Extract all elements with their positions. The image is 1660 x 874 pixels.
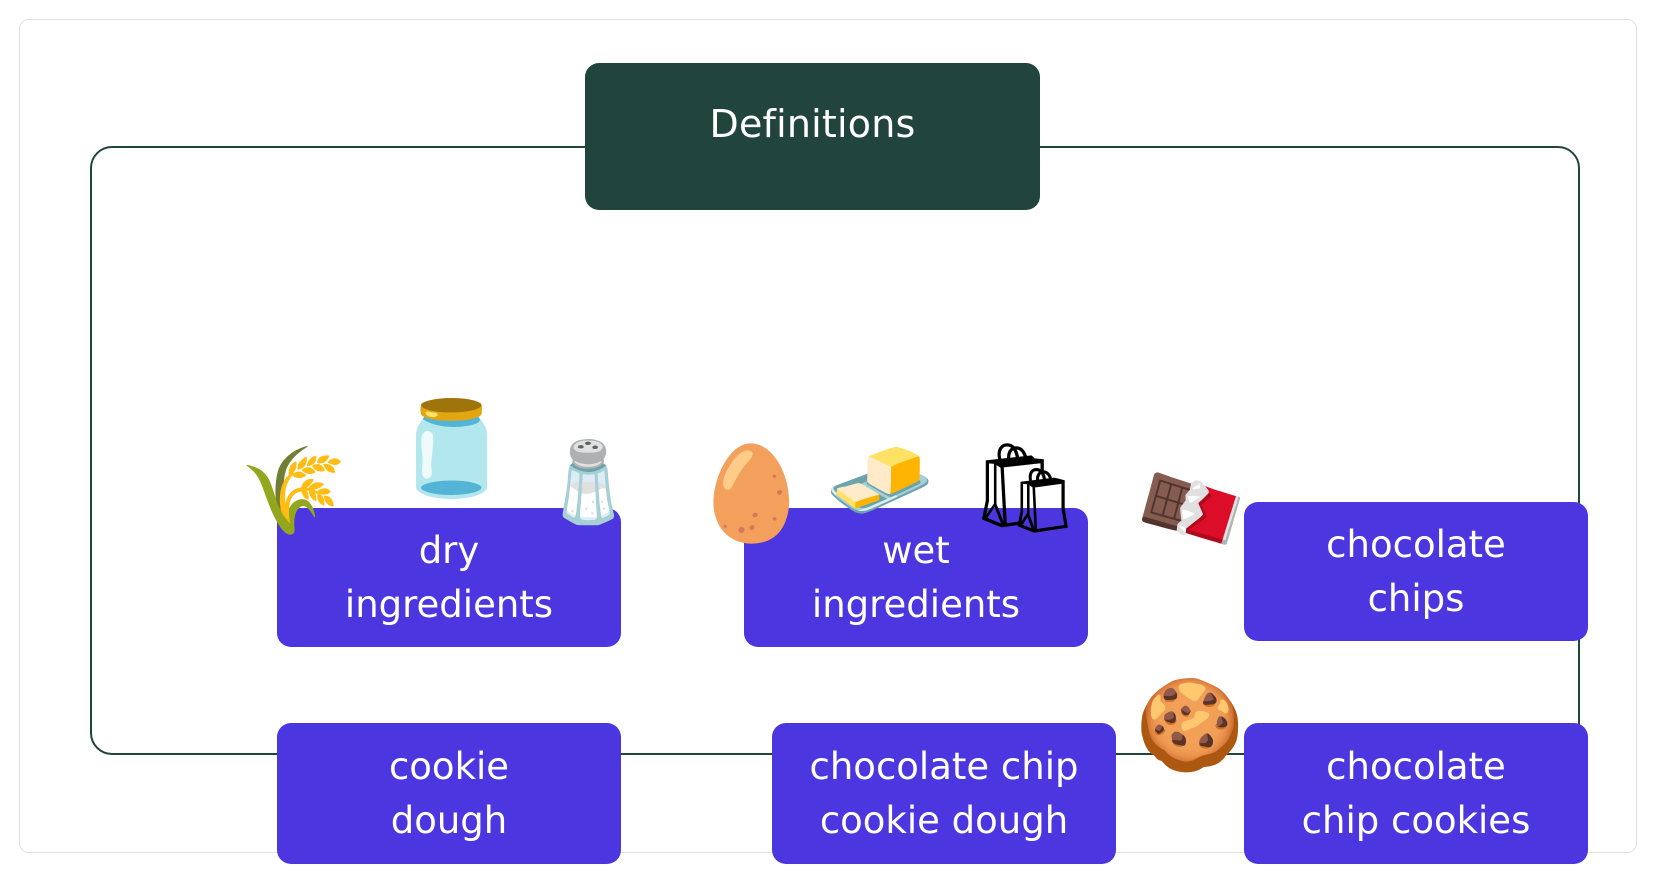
sugar-bag-icon: 🛍	[969, 444, 1081, 532]
butter-icon: 🧈	[825, 436, 935, 524]
concept-chip-chocolate-chips[interactable]: chocolate chips	[1244, 502, 1588, 641]
panel-title: Definitions	[709, 105, 915, 143]
page-card: dry ingredients wet ingredients chocolat…	[19, 19, 1637, 853]
concept-chip-chocolate-chip-cookie-dough[interactable]: chocolate chip cookie dough	[772, 723, 1116, 864]
concept-chip-label: cookie dough	[389, 740, 509, 847]
concept-chip-label: dry ingredients	[345, 524, 553, 631]
jar-icon: 🫙	[394, 403, 509, 495]
concept-chip-chocolate-chip-cookies[interactable]: chocolate chip cookies	[1244, 723, 1588, 864]
concept-chip-label: chocolate chips	[1326, 518, 1506, 625]
concept-chip-cookie-dough[interactable]: cookie dough	[277, 723, 621, 864]
salt-shaker-icon: 🧂	[540, 444, 637, 522]
concept-chip-label: chocolate chip cookie dough	[810, 740, 1079, 847]
sheaf-of-rice-icon: 🌾	[240, 448, 347, 534]
concept-chip-label: wet ingredients	[812, 524, 1020, 631]
concept-grid: dry ingredients wet ingredients chocolat…	[92, 148, 1578, 753]
chocolate-bar-icon: 🍫	[1122, 444, 1260, 573]
definitions-panel: dry ingredients wet ingredients chocolat…	[90, 146, 1580, 755]
concept-chip-label: chocolate chip cookies	[1302, 740, 1531, 847]
panel-title-tab: Definitions	[585, 63, 1040, 210]
cookie-icon: 🍪	[1135, 681, 1245, 769]
egg-icon: 🥚	[694, 448, 809, 540]
